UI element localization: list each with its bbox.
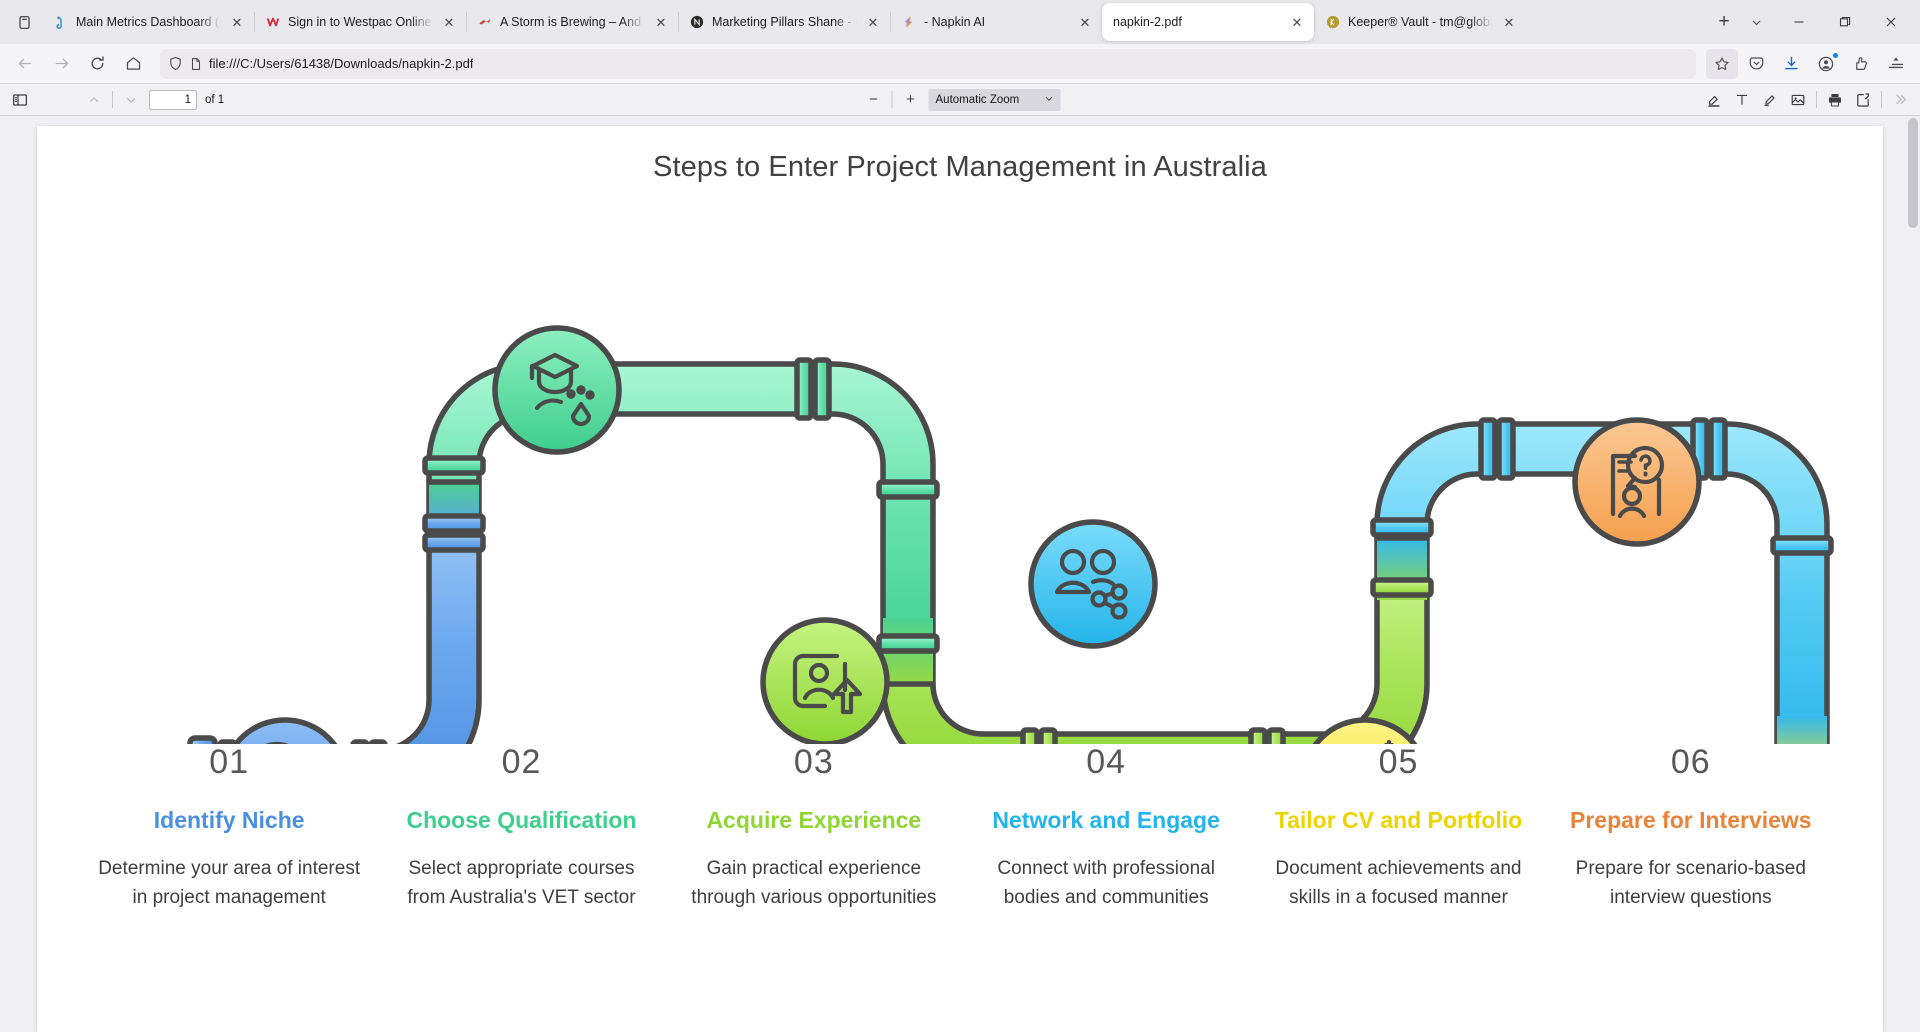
step-card-02: 02 Choose Qualification Select appropria… [375,744,667,912]
tab-close-icon[interactable]: ✕ [652,13,670,31]
pipeline-diagram [37,184,1883,744]
draw-icon[interactable] [1756,87,1784,113]
back-icon[interactable] [8,48,42,80]
account-icon[interactable] [1810,49,1842,79]
browser-tab[interactable]: Main Metrics Dashboard (GHL) ✕ [42,3,254,41]
step-description: Select appropriate courses from Australi… [387,855,655,912]
browser-tab[interactable]: - Napkin AI ✕ [890,3,1102,41]
node-06 [1575,420,1699,544]
tab-title: - Napkin AI [924,15,1069,29]
node-04 [1031,522,1155,646]
step-card-05: 05 Tailor CV and Portfolio Document achi… [1252,744,1544,912]
text-icon[interactable] [1728,87,1756,113]
maximize-button[interactable] [1822,2,1868,42]
zoom-controls: − + Automatic Zoom [860,87,1061,113]
scrollbar-thumb[interactable] [1908,118,1918,228]
close-window-button[interactable] [1868,2,1914,42]
step-number: 06 [1557,744,1825,781]
step-description: Connect with professional bodies and com… [972,855,1240,912]
browser-tab[interactable]: A Storm is Brewing – And It's No ✕ [466,3,678,41]
previous-page-icon[interactable] [80,87,108,113]
page-title: Steps to Enter Project Management in Aus… [37,126,1883,184]
tab-list: Main Metrics Dashboard (GHL) ✕ Sign in t… [42,2,1708,42]
page-number-input[interactable]: 1 [149,90,197,110]
step-title: Identify Niche [95,804,363,837]
pdf-toolbar: 1 of 1 − + Automatic Zoom [0,84,1920,116]
toolbar-icons [1740,49,1912,79]
step-number: 05 [1264,744,1532,781]
app-menu-icon[interactable] [1880,49,1912,79]
node-02 [495,328,619,452]
divider [892,91,893,108]
keeper-icon [1325,14,1341,30]
url-text: file:///C:/Users/61438/Downloads/napkin-… [209,56,473,71]
step-description: Gain practical experience through variou… [680,855,948,912]
notion-icon [689,14,705,30]
step-card-01: 01 Identify Niche Determine your area of… [83,744,375,912]
step-number: 04 [972,744,1240,781]
pdf-page: Steps to Enter Project Management in Aus… [37,126,1883,1032]
downloads-icon[interactable] [1775,49,1807,79]
sidebar-toggle-icon[interactable] [6,87,34,113]
new-tab-button[interactable]: + [1708,6,1740,38]
ghl-icon [53,14,69,30]
window-controls [1776,2,1914,42]
tab-list-menu-icon[interactable] [1740,6,1772,38]
vertical-scrollbar[interactable] [1906,116,1920,1032]
step-description: Prepare for scenario-based interview que… [1557,855,1825,912]
node-03 [763,620,887,744]
tab-strip: Main Metrics Dashboard (GHL) ✕ Sign in t… [0,0,1920,44]
step-description: Determine your area of interest in proje… [95,855,363,912]
tab-close-icon[interactable]: ✕ [1288,13,1306,31]
pdf-viewer[interactable]: Steps to Enter Project Management in Aus… [0,116,1920,1032]
node-01 [223,720,347,744]
westpac-icon [265,14,281,30]
step-title: Network and Engage [972,804,1240,837]
pipe-03 [883,538,1431,744]
document-icon [189,57,203,71]
divider [112,91,113,108]
step-card-06: 06 Prepare for Interviews Prepare for sc… [1545,744,1837,912]
zoom-in-button[interactable]: + [897,87,925,113]
step-title: Prepare for Interviews [1557,804,1825,837]
bookmark-star-icon[interactable] [1706,49,1738,79]
browser-tab[interactable]: Keeper® Vault - tm@globaltra ✕ [1314,3,1526,41]
step-number: 02 [387,744,655,781]
home-icon[interactable] [116,48,150,80]
storm-icon [477,14,493,30]
step-card-04: 04 Network and Engage Connect with profe… [960,744,1252,912]
step-number: 01 [95,744,363,781]
save-icon[interactable] [1849,87,1877,113]
pipe-01 [190,482,483,744]
tab-title: Main Metrics Dashboard (GHL) [76,15,221,29]
tab-title: Marketing Pillars Shane - Conte [712,15,857,29]
shield-icon[interactable] [168,56,183,71]
browser-tab[interactable]: Sign in to Westpac Online Banki ✕ [254,3,466,41]
extensions-icon[interactable] [1845,49,1877,79]
chevron-down-icon [1045,89,1054,111]
browser-window: Main Metrics Dashboard (GHL) ✕ Sign in t… [0,0,1920,1032]
tab-close-icon[interactable]: ✕ [864,13,882,31]
napkin-icon [901,14,917,30]
steps-row: 01 Identify Niche Determine your area of… [65,744,1855,912]
tab-close-icon[interactable]: ✕ [1500,13,1518,31]
browser-tab[interactable]: Marketing Pillars Shane - Conte ✕ [678,3,890,41]
browser-tab-active[interactable]: napkin-2.pdf ✕ [1102,3,1314,41]
pdf-tools [1700,87,1914,113]
forward-icon[interactable] [44,48,78,80]
image-icon[interactable] [1784,87,1812,113]
tab-title: A Storm is Brewing – And It's No [500,15,645,29]
divider [1881,91,1882,108]
tab-title: Sign in to Westpac Online Banki [288,15,433,29]
step-title: Tailor CV and Portfolio [1264,804,1532,837]
next-page-icon[interactable] [117,87,145,113]
zoom-out-button[interactable]: − [860,87,888,113]
step-description: Document achievements and skills in a fo… [1264,855,1532,912]
zoom-select[interactable]: Automatic Zoom [929,89,1061,111]
tab-close-icon[interactable]: ✕ [228,13,246,31]
step-title: Choose Qualification [387,804,655,837]
steps-pipeline [37,184,1883,744]
tab-close-icon[interactable]: ✕ [440,13,458,31]
step-title: Acquire Experience [680,804,948,837]
zoom-level-label: Automatic Zoom [936,94,1020,106]
print-icon[interactable] [1821,87,1849,113]
divider [1816,91,1817,108]
list-all-tabs-icon[interactable] [6,6,42,38]
step-number: 03 [680,744,948,781]
reload-icon[interactable] [80,48,114,80]
tab-title: napkin-2.pdf [1113,15,1281,29]
step-card-03: 03 Acquire Experience Gain practical exp… [668,744,960,912]
highlight-icon[interactable] [1700,87,1728,113]
pocket-icon[interactable] [1740,49,1772,79]
page-count-label: of 1 [205,94,224,106]
navigation-toolbar: file:///C:/Users/61438/Downloads/napkin-… [0,44,1920,84]
minimize-button[interactable] [1776,2,1822,42]
more-tools-icon[interactable] [1886,87,1914,113]
tab-close-icon[interactable]: ✕ [1076,13,1094,31]
tab-title: Keeper® Vault - tm@globaltra [1348,15,1493,29]
address-bar[interactable]: file:///C:/Users/61438/Downloads/napkin-… [160,49,1696,79]
